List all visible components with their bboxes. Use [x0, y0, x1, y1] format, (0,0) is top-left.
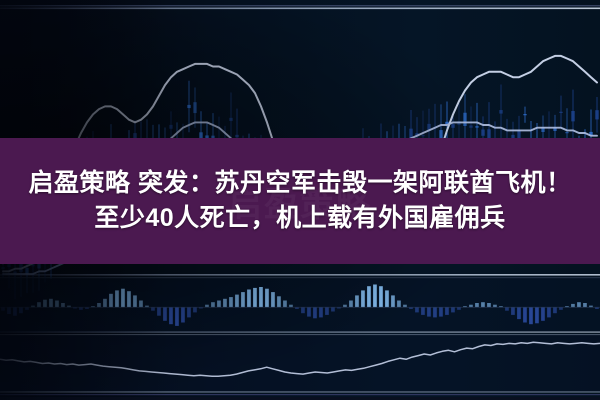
oscillator-line-series [0, 335, 600, 392]
headline-overlay-band: 启盈策略 启盈策略 突发：苏丹空军击毁一架阿联酋飞机！ 至少40人死亡，机上载有… [0, 138, 600, 264]
watermark-text: 启盈策略 [0, 138, 600, 264]
headline-line-1: 启盈策略 突发：苏丹空军击毁一架阿联酋飞机！ [29, 169, 572, 199]
headline-line-2: 至少40人死亡，机上载有外国雇佣兵 [94, 204, 505, 234]
chart-background-image: 启盈策略 启盈策略 突发：苏丹空军击毁一架阿联酋飞机！ 至少40人死亡，机上载有… [0, 0, 600, 400]
histogram-series [0, 277, 600, 332]
